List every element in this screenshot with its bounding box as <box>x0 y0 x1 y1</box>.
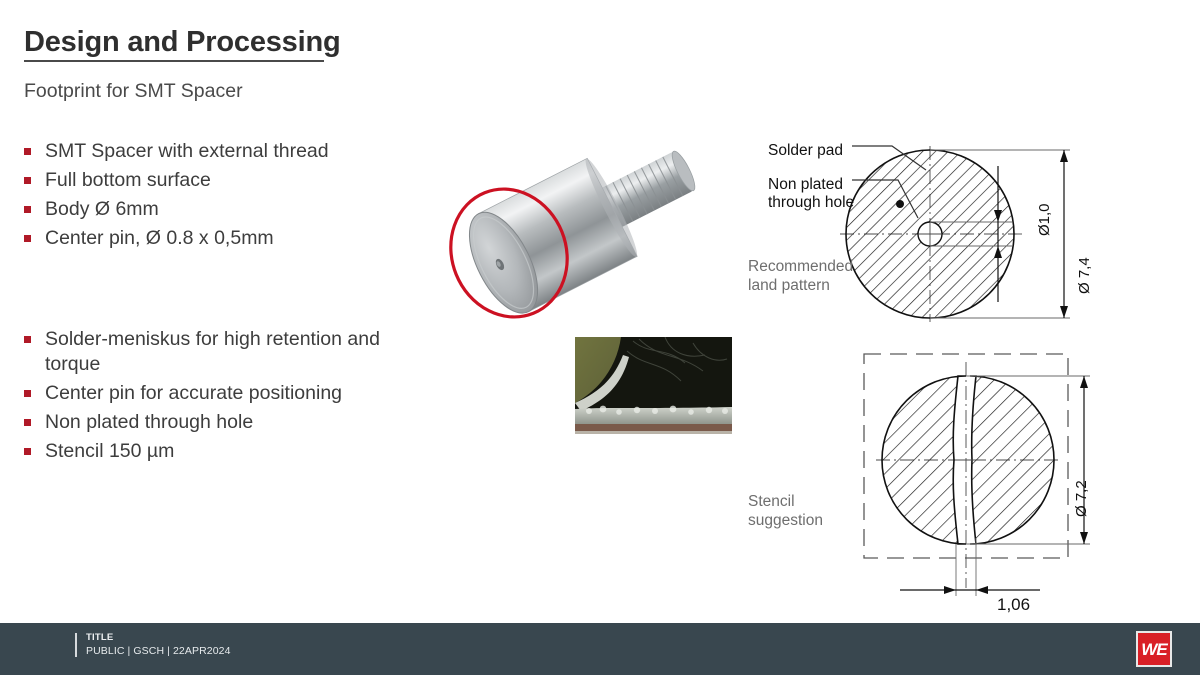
list-item: Center pin for accurate positioning <box>24 381 444 406</box>
footer-bar: TITLE PUBLIC | GSCH | 22APR2024 WE <box>0 623 1200 675</box>
bullet-list-benefits: Solder-meniskus for high retention and t… <box>24 327 444 468</box>
micro-photo-image <box>575 337 732 434</box>
slide-canvas: Design and Processing Footprint for SMT … <box>0 0 1200 675</box>
title-block: Design and Processing Footprint for SMT … <box>24 26 444 104</box>
list-item: Non plated through hole <box>24 410 444 435</box>
caption-recommended-land-pattern: Recommended land pattern <box>748 258 878 296</box>
list-item-label: Body Ø 6mm <box>45 197 159 222</box>
label-solder-pad: Solder pad <box>768 142 843 160</box>
stencil-drawing <box>740 338 1190 610</box>
dimension-stencil-diameter: Ø 7,2 <box>1073 480 1090 517</box>
page-subtitle: Footprint for SMT Spacer <box>24 80 444 103</box>
footer-title: TITLE <box>86 633 231 644</box>
square-bullet-icon <box>24 448 31 455</box>
list-item-label: Center pin, Ø 0.8 x 0,5mm <box>45 226 274 251</box>
title-underline <box>24 60 324 62</box>
footer-text-block: TITLE PUBLIC | GSCH | 22APR2024 <box>75 633 231 657</box>
list-item-label: Non plated through hole <box>45 410 253 435</box>
square-bullet-icon <box>24 336 31 343</box>
list-item: Full bottom surface <box>24 168 444 193</box>
square-bullet-icon <box>24 419 31 426</box>
dimension-inner-diameter: Ø1,0 <box>1036 203 1053 236</box>
dimension-stencil-gap: 1,06 <box>997 595 1030 615</box>
logo-text: WE <box>1141 641 1166 658</box>
list-item: Body Ø 6mm <box>24 197 444 222</box>
list-item-label: Stencil 150 µm <box>45 439 174 464</box>
wurth-elektronik-logo: WE <box>1136 631 1172 667</box>
list-item-label: Center pin for accurate positioning <box>45 381 342 406</box>
list-item-label: Full bottom surface <box>45 168 211 193</box>
list-item: Center pin, Ø 0.8 x 0,5mm <box>24 226 444 251</box>
label-non-plated-through-hole: Non plated through hole <box>768 176 878 213</box>
page-title: Design and Processing <box>24 26 444 58</box>
square-bullet-icon <box>24 235 31 242</box>
list-item: Stencil 150 µm <box>24 439 444 464</box>
square-bullet-icon <box>24 177 31 184</box>
list-item: Solder-meniskus for high retention and t… <box>24 327 444 377</box>
product-render-image <box>404 128 744 343</box>
dimension-outer-diameter: Ø 7,4 <box>1076 257 1093 294</box>
caption-stencil-suggestion: Stencil suggestion <box>748 493 878 531</box>
list-item-label: SMT Spacer with external thread <box>45 139 329 164</box>
square-bullet-icon <box>24 206 31 213</box>
list-item: SMT Spacer with external thread <box>24 139 444 164</box>
square-bullet-icon <box>24 390 31 397</box>
bullet-list-features: SMT Spacer with external thread Full bot… <box>24 139 444 255</box>
square-bullet-icon <box>24 148 31 155</box>
list-item-label: Solder-meniskus for high retention and t… <box>45 327 425 377</box>
footer-meta: PUBLIC | GSCH | 22APR2024 <box>86 645 231 657</box>
